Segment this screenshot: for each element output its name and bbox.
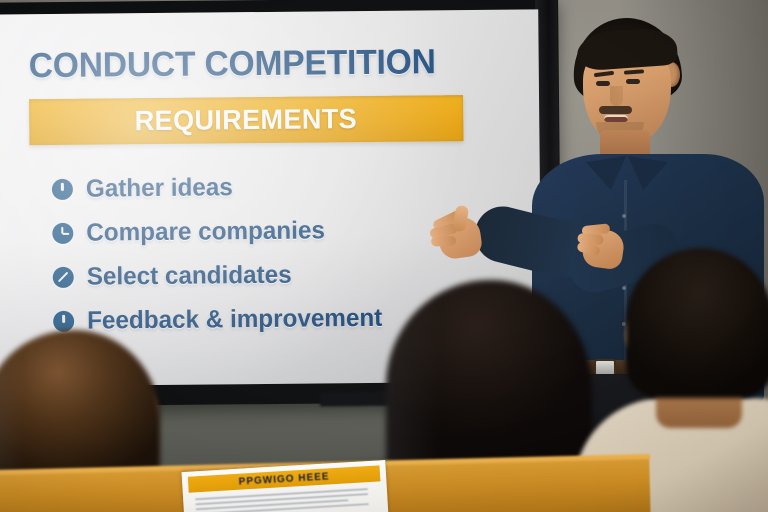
presenter-shirt-button	[622, 214, 626, 218]
clock-twelve-icon	[52, 178, 73, 199]
slide-bullet-label: Compare companies	[86, 218, 325, 245]
slide-banner: REQUIREMENTS	[29, 95, 463, 145]
presentation-scene: CONDUCT COMPETITION REQUIREMENTS Gather …	[0, 0, 768, 512]
audience-right-hair	[626, 248, 768, 398]
slide-title: CONDUCT COMPETITION	[29, 44, 519, 84]
presenter-finger	[431, 236, 456, 247]
presenter-mouth	[604, 115, 628, 122]
slide-bullet-label: Gather ideas	[86, 175, 233, 201]
clock-twelve-icon	[53, 310, 74, 331]
presenter-hand-left	[424, 200, 491, 264]
slash-circle-icon	[53, 266, 74, 287]
presenter-mustache	[599, 106, 632, 114]
presenter-eye-left	[596, 81, 610, 86]
slide-bullet-label: Select candidates	[87, 262, 292, 289]
handout-body-text	[195, 488, 374, 512]
clock-four-icon	[52, 222, 73, 243]
slide-bullet-label: Feedback & improvement	[87, 305, 382, 333]
presenter-eye-right	[626, 79, 640, 84]
handout-banner-text: PPGWIGO HEEE	[238, 471, 329, 487]
slide-banner-label: REQUIREMENTS	[135, 103, 358, 137]
presenter-nose	[610, 86, 623, 106]
